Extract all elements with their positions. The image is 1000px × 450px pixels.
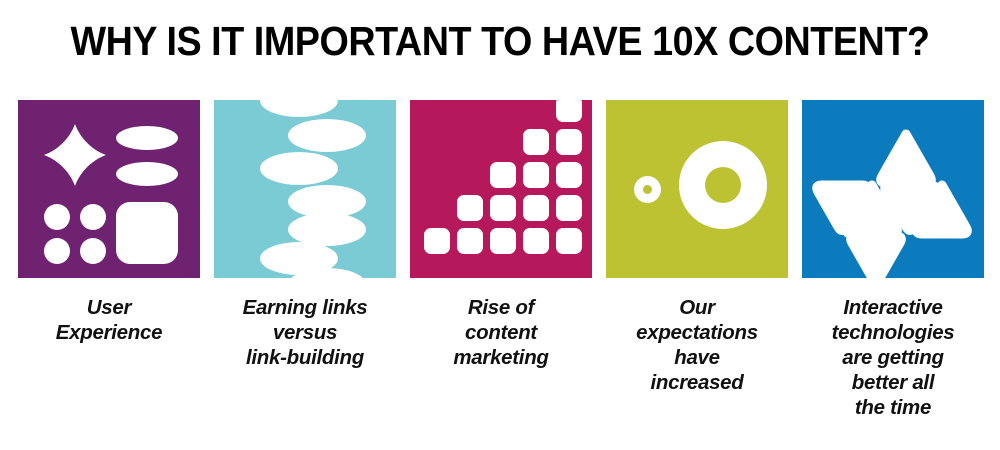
bar-block (556, 100, 582, 122)
bar-block (457, 228, 483, 254)
column-interactive-technologies: Interactive technologies are getting bet… (802, 100, 984, 420)
bar-block (490, 162, 516, 188)
infographic-root: WHY IS IT IMPORTANT TO HAVE 10X CONTENT?… (0, 0, 1000, 450)
caption-expectations: Our expectations have increased (604, 295, 790, 395)
bar-block (556, 129, 582, 155)
bar-block (556, 195, 582, 221)
page-title: WHY IS IT IMPORTANT TO HAVE 10X CONTENT? (40, 18, 960, 65)
bar-block (523, 228, 549, 254)
four-point-star-icon (44, 124, 106, 186)
column-content-marketing: Rise of content marketing (410, 100, 592, 370)
chain-link-icon (260, 100, 338, 117)
bar-block (523, 195, 549, 221)
dot-icon (44, 204, 70, 230)
tile-user-experience (18, 100, 200, 278)
bar-block (556, 162, 582, 188)
dot-icon (44, 238, 70, 264)
column-earning-links: Earning links versus link-building (214, 100, 396, 370)
caption-interactive-technologies: Interactive technologies are getting bet… (800, 295, 986, 420)
large-donut-icon (679, 141, 767, 229)
triangle-up-icon (881, 134, 932, 183)
ellipse-top-icon (116, 126, 178, 150)
bar-block (490, 195, 516, 221)
bar-block (424, 228, 450, 254)
column-expectations: Our expectations have increased (606, 100, 788, 395)
tile-interactive-technologies (802, 100, 984, 278)
chain-link-icon (260, 152, 338, 185)
columns-row: User Experience Earning links versus lin… (18, 100, 984, 420)
column-user-experience: User Experience (18, 100, 200, 345)
ellipse-bottom-icon (116, 162, 178, 186)
dot-icon (80, 204, 106, 230)
bar-block (556, 228, 582, 254)
caption-content-marketing: Rise of content marketing (408, 295, 594, 370)
tile-earning-links (214, 100, 396, 278)
rounded-square-icon (116, 202, 178, 264)
tile-expectations (606, 100, 788, 278)
bar-block (457, 195, 483, 221)
bar-block (523, 162, 549, 188)
bar-block (490, 228, 516, 254)
tile-content-marketing (410, 100, 592, 278)
dot-icon (80, 238, 106, 264)
triangle-down-icon (851, 236, 902, 278)
triangle-cluster-icon (802, 100, 984, 278)
chain-link-icon (288, 119, 366, 152)
caption-earning-links: Earning links versus link-building (212, 295, 398, 370)
bar-block (523, 129, 549, 155)
small-donut-icon (634, 176, 661, 203)
caption-user-experience: User Experience (16, 295, 202, 345)
